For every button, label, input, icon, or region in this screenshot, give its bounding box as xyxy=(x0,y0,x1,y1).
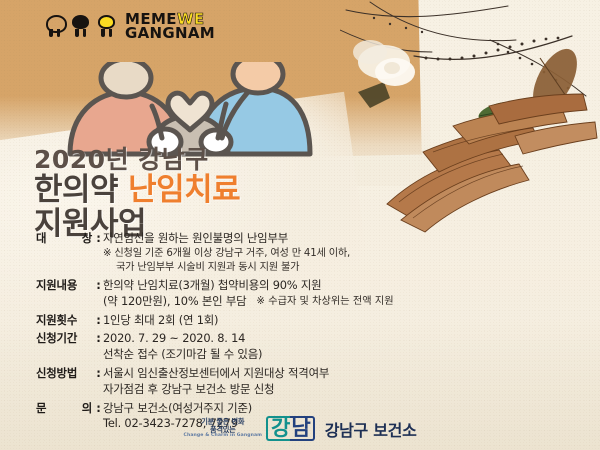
info-label-left: 대 xyxy=(36,231,46,246)
note-indent xyxy=(36,261,103,275)
info-note-text: ※ 신청일 기준 6개월 이상 강남구 거주, 여성 만 41세 이하, xyxy=(103,247,350,261)
info-colon: : xyxy=(94,401,103,416)
info-colon: : xyxy=(94,278,103,293)
issuing-organization: 강남구 보건소 xyxy=(325,417,417,441)
info-label: 대 상 xyxy=(36,231,94,246)
person-figure-yellow-icon xyxy=(97,15,116,37)
continuation-indent xyxy=(36,347,103,362)
title-main-prefix: 한의약 xyxy=(34,172,118,208)
continuation-indent xyxy=(36,294,103,309)
family-illustration xyxy=(66,62,314,157)
info-colon: : xyxy=(94,231,103,246)
info-row: 지원내용 : 한의약 난임치료(3개월) 첩약비용의 90% 지원 xyxy=(36,278,576,293)
info-row: 지원횟수 : 1인당 최대 2회 (연 1회) xyxy=(36,313,576,328)
info-label-right: 상 xyxy=(82,231,92,246)
info-value: 서울시 임신출산정보센터에서 지원대상 적격여부 xyxy=(103,366,576,381)
info-label: 지원내용 xyxy=(36,278,94,293)
info-label-left: 문 xyxy=(36,401,46,416)
title-year-line: 2020년 강남구 xyxy=(34,146,240,173)
gangnam-mark-g: 강 xyxy=(266,416,290,441)
poster-title: 2020년 강남구 한의약난임치료 지원사업 xyxy=(34,146,240,240)
info-continuation-text: 자가점검 후 강남구 보건소 방문 신청 xyxy=(103,382,274,397)
info-label-right: 의 xyxy=(82,401,92,416)
info-value: 자연임신을 원하는 원인불명의 난임부부 xyxy=(103,231,576,246)
info-inline-note: ※ 수급자 및 차상위는 전액 지원 xyxy=(256,294,393,309)
info-colon: : xyxy=(94,366,103,381)
brand-gangnam: GANGNAM xyxy=(125,26,215,40)
gangnam-mark-n: 남 xyxy=(290,416,314,441)
footer-logo-bar: 기분 좋은 변화 품격있는 Change & Charm in Gangnam … xyxy=(0,416,600,441)
gangnam-wordmark: 강 남 xyxy=(266,416,315,441)
poster-canvas: MEMEWE GANGNAM xyxy=(0,0,600,450)
info-label: 신청방법 xyxy=(36,366,94,381)
info-row: 신청기간 : 2020. 7. 29 ~ 2020. 8. 14 xyxy=(36,331,576,346)
info-continuation-text: 선착순 접수 (조기마감 될 수 있음) xyxy=(103,347,262,362)
info-value: 강남구 보건소(여성거주지 기준) xyxy=(103,401,576,416)
info-label: 신청기간 xyxy=(36,331,94,346)
brand-figures xyxy=(45,15,116,37)
meme-we-gangnam-logo: MEMEWE GANGNAM xyxy=(45,12,215,40)
gangnam-slogan: 기분 좋은 변화 품격있는 Change & Charm in Gangnam xyxy=(184,418,263,439)
info-value: 1인당 최대 2회 (연 1회) xyxy=(103,313,576,328)
info-note-text: 국가 난임부부 시술비 지원과 동시 지원 불가 xyxy=(116,261,299,275)
info-continuation-text: (약 120만원), 10% 본인 부담 xyxy=(103,294,246,309)
title-main-line: 한의약난임치료 xyxy=(34,174,240,207)
info-label: 지원횟수 xyxy=(36,313,94,328)
info-value: 한의약 난임치료(3개월) 첩약비용의 90% 지원 xyxy=(103,278,576,293)
person-figure-black-icon xyxy=(71,15,90,37)
info-row: 신청방법 : 서울시 임신출산정보센터에서 지원대상 적격여부 xyxy=(36,366,576,381)
info-row: 대 상 : 자연임신을 원하는 원인불명의 난임부부 xyxy=(36,231,576,246)
info-colon: : xyxy=(94,331,103,346)
info-label: 문 의 xyxy=(36,401,94,416)
continuation-indent xyxy=(36,382,103,397)
title-highlight: 난임치료 xyxy=(128,172,240,208)
info-value: 2020. 7. 29 ~ 2020. 8. 14 xyxy=(103,331,576,346)
slogan-english: Change & Charm in Gangnam xyxy=(184,434,263,439)
info-continuation-row: 자가점검 후 강남구 보건소 방문 신청 xyxy=(36,382,576,397)
info-continuation-row: (약 120만원), 10% 본인 부담 ※ 수급자 및 차상위는 전액 지원 xyxy=(36,294,576,309)
info-continuation-row: 선착순 접수 (조기마감 될 수 있음) xyxy=(36,347,576,362)
info-note-row: ※ 신청일 기준 6개월 이상 강남구 거주, 여성 만 41세 이하, xyxy=(36,247,576,261)
info-colon: : xyxy=(94,313,103,328)
note-indent xyxy=(36,247,103,261)
info-list: 대 상 : 자연임신을 원하는 원인불명의 난임부부 ※ 신청일 기준 6개월 … xyxy=(36,231,576,432)
person-figure-outline-icon xyxy=(45,15,64,37)
gangnam-ci-logo: 기분 좋은 변화 품격있는 Change & Charm in Gangnam … xyxy=(184,416,315,441)
info-note-row: 국가 난임부부 시술비 지원과 동시 지원 불가 xyxy=(36,261,576,275)
brand-wordmark: MEMEWE GANGNAM xyxy=(125,12,215,40)
info-row: 문 의 : 강남구 보건소(여성거주지 기준) xyxy=(36,401,576,416)
